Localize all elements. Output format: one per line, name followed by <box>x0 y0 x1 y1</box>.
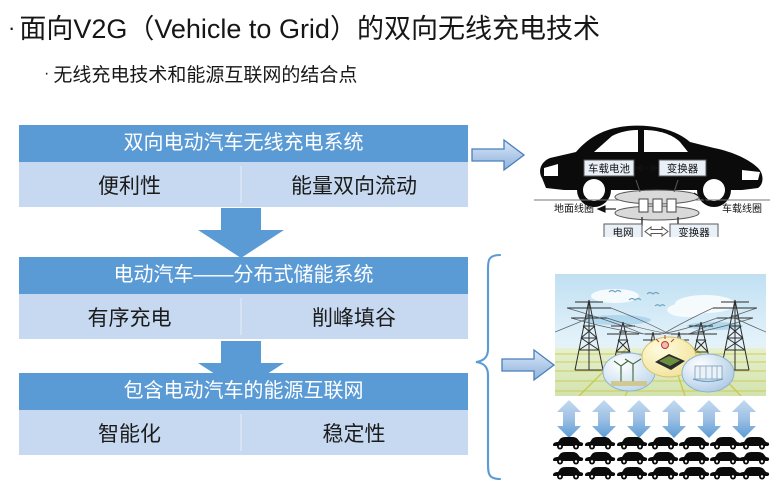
bidirectional-arrow-icon <box>697 400 721 438</box>
page-title: ·面向V2G（Vehicle to Grid）的双向无线充电技术 <box>8 12 600 48</box>
flow-box-2-right-cell: 削峰填谷 <box>240 294 468 339</box>
label-converter-onboard-text: 变换器 <box>667 162 699 175</box>
flow-box-1-body: 便利性 能量双向流动 <box>19 162 468 207</box>
page-title-text: 面向V2G（Vehicle to Grid）的双向无线充电技术 <box>19 14 600 44</box>
flow-box-2-header: 电动汽车——分布式储能系统 <box>19 257 468 294</box>
bullet-icon: · <box>44 62 49 86</box>
car-fleet-rows <box>552 437 770 482</box>
page-subtitle-text: 无线充电技术和能源互联网的结合点 <box>53 65 357 86</box>
label-converter-grid-text: 变换器 <box>678 226 710 237</box>
car-row <box>553 467 769 480</box>
slide-canvas: ·面向V2G（Vehicle to Grid）的双向无线充电技术 ·无线充电技术… <box>0 0 781 489</box>
bidirectional-arrow-icon <box>732 400 756 438</box>
energy-internet-photo <box>555 274 766 396</box>
label-grid-box: 电网 <box>604 224 642 237</box>
bidirectional-arrows-row <box>556 400 766 438</box>
bidirectional-arrow-icon <box>557 400 581 438</box>
label-vehicle-coil-text: 车载线圈 <box>722 202 762 215</box>
flow-box-1: 双向电动汽车无线充电系统 便利性 能量双向流动 <box>19 125 468 207</box>
bidirectional-arrow-icon <box>662 400 686 438</box>
flow-box-3: 包含电动汽车的能源互联网 智能化 稳定性 <box>19 373 468 455</box>
flow-box-1-left-cell: 便利性 <box>19 162 240 207</box>
label-converter-grid-box: 变换器 <box>670 224 718 237</box>
flow-box-1-right-cell: 能量双向流动 <box>240 162 468 207</box>
flow-box-2-left-cell: 有序充电 <box>19 294 240 339</box>
label-converter-onboard-box: 变换器 <box>659 160 706 176</box>
car-row <box>553 437 769 450</box>
label-ground-coil-text: 地面线圈 <box>554 202 594 215</box>
label-battery-text: 车载电池 <box>588 162 630 175</box>
ev-wireless-charging-diagram: 车载电池 变换器 地面线圈 车载线圈 电网 <box>528 112 776 237</box>
flow-box-3-header: 包含电动汽车的能源互联网 <box>19 373 468 410</box>
flow-box-1-header: 双向电动汽车无线充电系统 <box>19 125 468 162</box>
bidirectional-arrow-icon <box>627 400 651 438</box>
right-arrow-icon <box>470 138 526 172</box>
brace-icon <box>470 253 510 481</box>
label-battery-box: 车载电池 <box>584 160 634 176</box>
flow-box-3-left-cell: 智能化 <box>19 410 240 455</box>
car-row <box>553 452 769 465</box>
flow-box-2: 电动汽车——分布式储能系统 有序充电 削峰填谷 <box>19 257 468 339</box>
flow-box-3-body: 智能化 稳定性 <box>19 410 468 455</box>
flow-box-2-body: 有序充电 削峰填谷 <box>19 294 468 339</box>
label-grid-text: 电网 <box>613 226 634 237</box>
page-subtitle: ·无线充电技术和能源互联网的结合点 <box>44 64 357 88</box>
flow-box-3-right-cell: 稳定性 <box>240 410 468 455</box>
down-arrow-icon <box>196 208 286 258</box>
bidirectional-arrow-icon <box>592 400 616 438</box>
bullet-icon: · <box>8 11 15 45</box>
bubble-hydro-plant <box>682 354 734 392</box>
